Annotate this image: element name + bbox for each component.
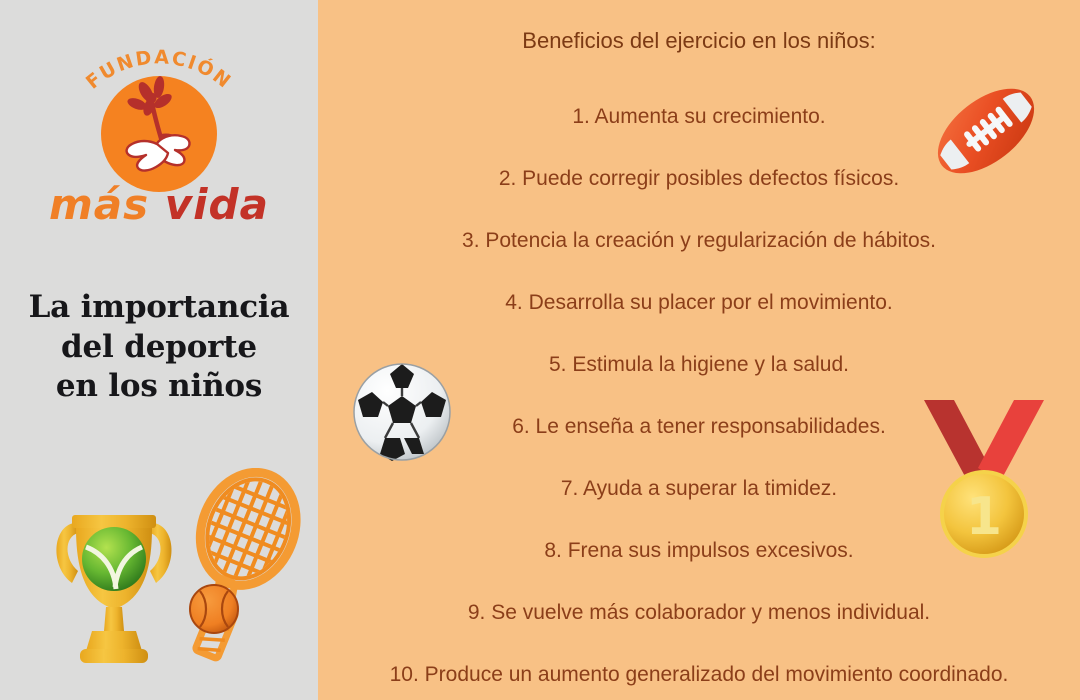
page-title-line-1: La importancia: [10, 288, 308, 328]
page-title-line-3: en los niños: [10, 367, 308, 407]
logo-word-mas: más: [49, 180, 149, 229]
medal-ribbon-left: [924, 400, 990, 482]
benefits-heading: Beneficios del ejercicio en los niños:: [318, 28, 1080, 54]
logo-wordmark: más vida: [39, 184, 279, 226]
list-item: 10. Produce un aumento generalizado del …: [318, 644, 1080, 700]
gold-medal-icon: 1: [920, 392, 1048, 564]
medal-ribbon-right: [978, 400, 1044, 482]
page-title-line-2: del deporte: [10, 328, 308, 368]
left-panel: FUNDACIÓN: [0, 0, 318, 700]
baseball-icon: [188, 583, 240, 635]
medal-number: 1: [966, 487, 1002, 547]
trophy-icon: [48, 497, 180, 667]
foundation-logo: FUNDACIÓN: [39, 18, 279, 243]
list-item: 4. Desarrolla su placer por el movimient…: [318, 272, 1080, 334]
logo-word-vida: vida: [165, 180, 269, 229]
list-item: 3. Potencia la creación y regularización…: [318, 210, 1080, 272]
page-title: La importancia del deporte en los niños: [10, 288, 308, 407]
american-football-icon: [925, 72, 1047, 190]
hands-holding-flower-icon: [101, 70, 217, 198]
list-item: 9. Se vuelve más colaborador y menos ind…: [318, 582, 1080, 644]
soccer-ball-icon: [352, 362, 452, 462]
infographic-poster: FUNDACIÓN: [0, 0, 1080, 700]
